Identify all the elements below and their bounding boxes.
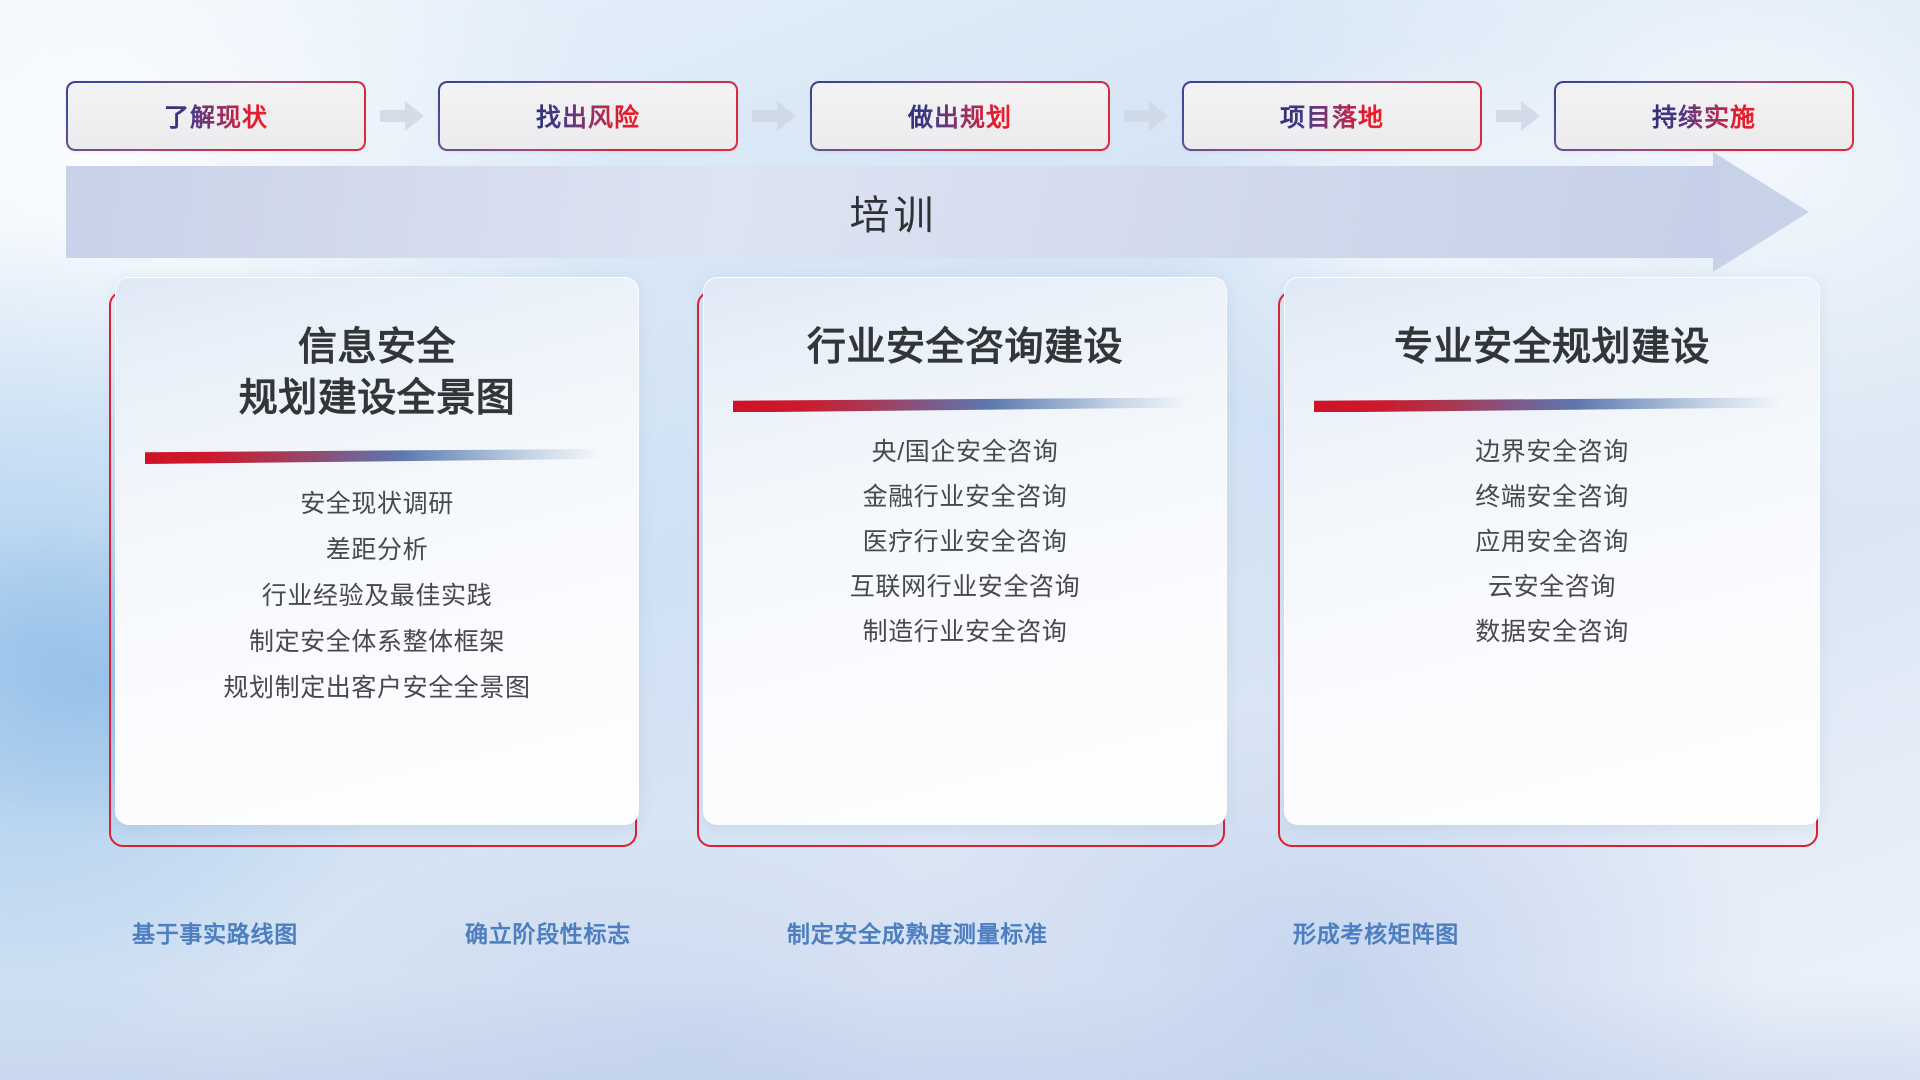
capability-card-1-title-line2: 规划建设全景图 — [116, 373, 638, 424]
footer-label-2: 确立阶段性标志 — [465, 915, 631, 949]
capability-card-1-body: 信息安全 规划建设全景图 安全现状调研 差距分析 行业经验及最佳实践 制定安全体… — [115, 277, 639, 825]
capability-card-3-divider — [1314, 397, 1790, 412]
capability-card-2-divider-bar — [733, 397, 1197, 412]
capability-card-2-list: 央/国企安全咨询 金融行业安全咨询 医疗行业安全咨询 互联网行业安全咨询 制造行… — [704, 430, 1226, 655]
list-item: 互联网行业安全咨询 — [850, 565, 1080, 610]
capability-card-1-divider — [145, 449, 609, 464]
training-banner: 培训 — [66, 166, 1854, 258]
process-step-3-label: 做出规划 — [908, 98, 1012, 134]
capability-card-3-body: 专业安全规划建设 边界安全咨询 终端安全咨询 应用安全咨询 云安全咨询 数据安全… — [1284, 277, 1820, 825]
process-arrow-4 — [1482, 101, 1554, 131]
list-item: 制定安全体系整体框架 — [249, 620, 505, 666]
training-banner-title: 培训 — [66, 166, 1721, 258]
process-step-4-label: 项目落地 — [1280, 98, 1384, 134]
capability-card-1-divider-bar — [145, 449, 609, 464]
list-item: 云安全咨询 — [1488, 565, 1616, 610]
capability-card-1-title-line1: 信息安全 — [116, 322, 638, 373]
list-item: 规划制定出客户安全全景图 — [223, 666, 530, 712]
capability-card-2-title: 行业安全咨询建设 — [704, 322, 1226, 373]
process-step-2-label: 找出风险 — [536, 98, 640, 134]
process-arrow-3 — [1110, 101, 1182, 131]
capability-card-2-title-line1: 行业安全咨询建设 — [704, 322, 1226, 373]
process-step-5-label: 持续实施 — [1652, 98, 1756, 134]
capability-card-3[interactable]: 专业安全规划建设 边界安全咨询 终端安全咨询 应用安全咨询 云安全咨询 数据安全… — [1278, 277, 1818, 847]
list-item: 金融行业安全咨询 — [863, 475, 1068, 520]
capability-card-1[interactable]: 信息安全 规划建设全景图 安全现状调研 差距分析 行业经验及最佳实践 制定安全体… — [109, 277, 637, 847]
list-item: 制造行业安全咨询 — [863, 610, 1068, 655]
process-arrow-1 — [366, 101, 438, 131]
process-step-5[interactable]: 持续实施 — [1554, 81, 1854, 151]
list-item: 行业经验及最佳实践 — [262, 574, 492, 620]
process-step-3[interactable]: 做出规划 — [810, 81, 1110, 151]
capability-card-2-body: 行业安全咨询建设 央/国企安全咨询 金融行业安全咨询 医疗行业安全咨询 互联网行… — [703, 277, 1227, 825]
list-item: 央/国企安全咨询 — [872, 430, 1059, 475]
capability-card-3-divider-bar — [1314, 397, 1790, 412]
process-step-2[interactable]: 找出风险 — [438, 81, 738, 151]
capability-card-2-divider — [733, 397, 1197, 412]
capability-card-1-list: 安全现状调研 差距分析 行业经验及最佳实践 制定安全体系整体框架 规划制定出客户… — [116, 482, 638, 712]
list-item: 差距分析 — [326, 528, 428, 574]
capability-card-3-title: 专业安全规划建设 — [1285, 322, 1819, 373]
capability-cards: 信息安全 规划建设全景图 安全现状调研 差距分析 行业经验及最佳实践 制定安全体… — [0, 277, 1920, 877]
list-item: 医疗行业安全咨询 — [863, 520, 1068, 565]
list-item: 应用安全咨询 — [1475, 520, 1629, 565]
process-step-1[interactable]: 了解现状 — [66, 81, 366, 151]
process-step-4[interactable]: 项目落地 — [1182, 81, 1482, 151]
process-step-1-label: 了解现状 — [164, 98, 268, 134]
process-arrow-2 — [738, 101, 810, 131]
footer-labels: 基于事实路线图 确立阶段性标志 制定安全成熟度测量标准 形成考核矩阵图 — [0, 915, 1920, 975]
background-glow-bottom-band — [0, 980, 1920, 1080]
list-item: 终端安全咨询 — [1475, 475, 1629, 520]
footer-label-4: 形成考核矩阵图 — [1293, 915, 1459, 949]
process-steps: 了解现状 找出风险 做出规划 项目落地 持续实施 — [66, 80, 1854, 152]
list-item: 安全现状调研 — [300, 482, 454, 528]
footer-label-3: 制定安全成熟度测量标准 — [787, 915, 1048, 949]
list-item: 边界安全咨询 — [1475, 430, 1629, 475]
footer-label-1: 基于事实路线图 — [132, 915, 298, 949]
capability-card-3-list: 边界安全咨询 终端安全咨询 应用安全咨询 云安全咨询 数据安全咨询 — [1285, 430, 1819, 655]
capability-card-3-title-line1: 专业安全规划建设 — [1285, 322, 1819, 373]
list-item: 数据安全咨询 — [1475, 610, 1629, 655]
capability-card-1-title: 信息安全 规划建设全景图 — [116, 322, 638, 425]
capability-card-2[interactable]: 行业安全咨询建设 央/国企安全咨询 金融行业安全咨询 医疗行业安全咨询 互联网行… — [697, 277, 1225, 847]
training-banner-arrowhead — [1713, 152, 1809, 272]
